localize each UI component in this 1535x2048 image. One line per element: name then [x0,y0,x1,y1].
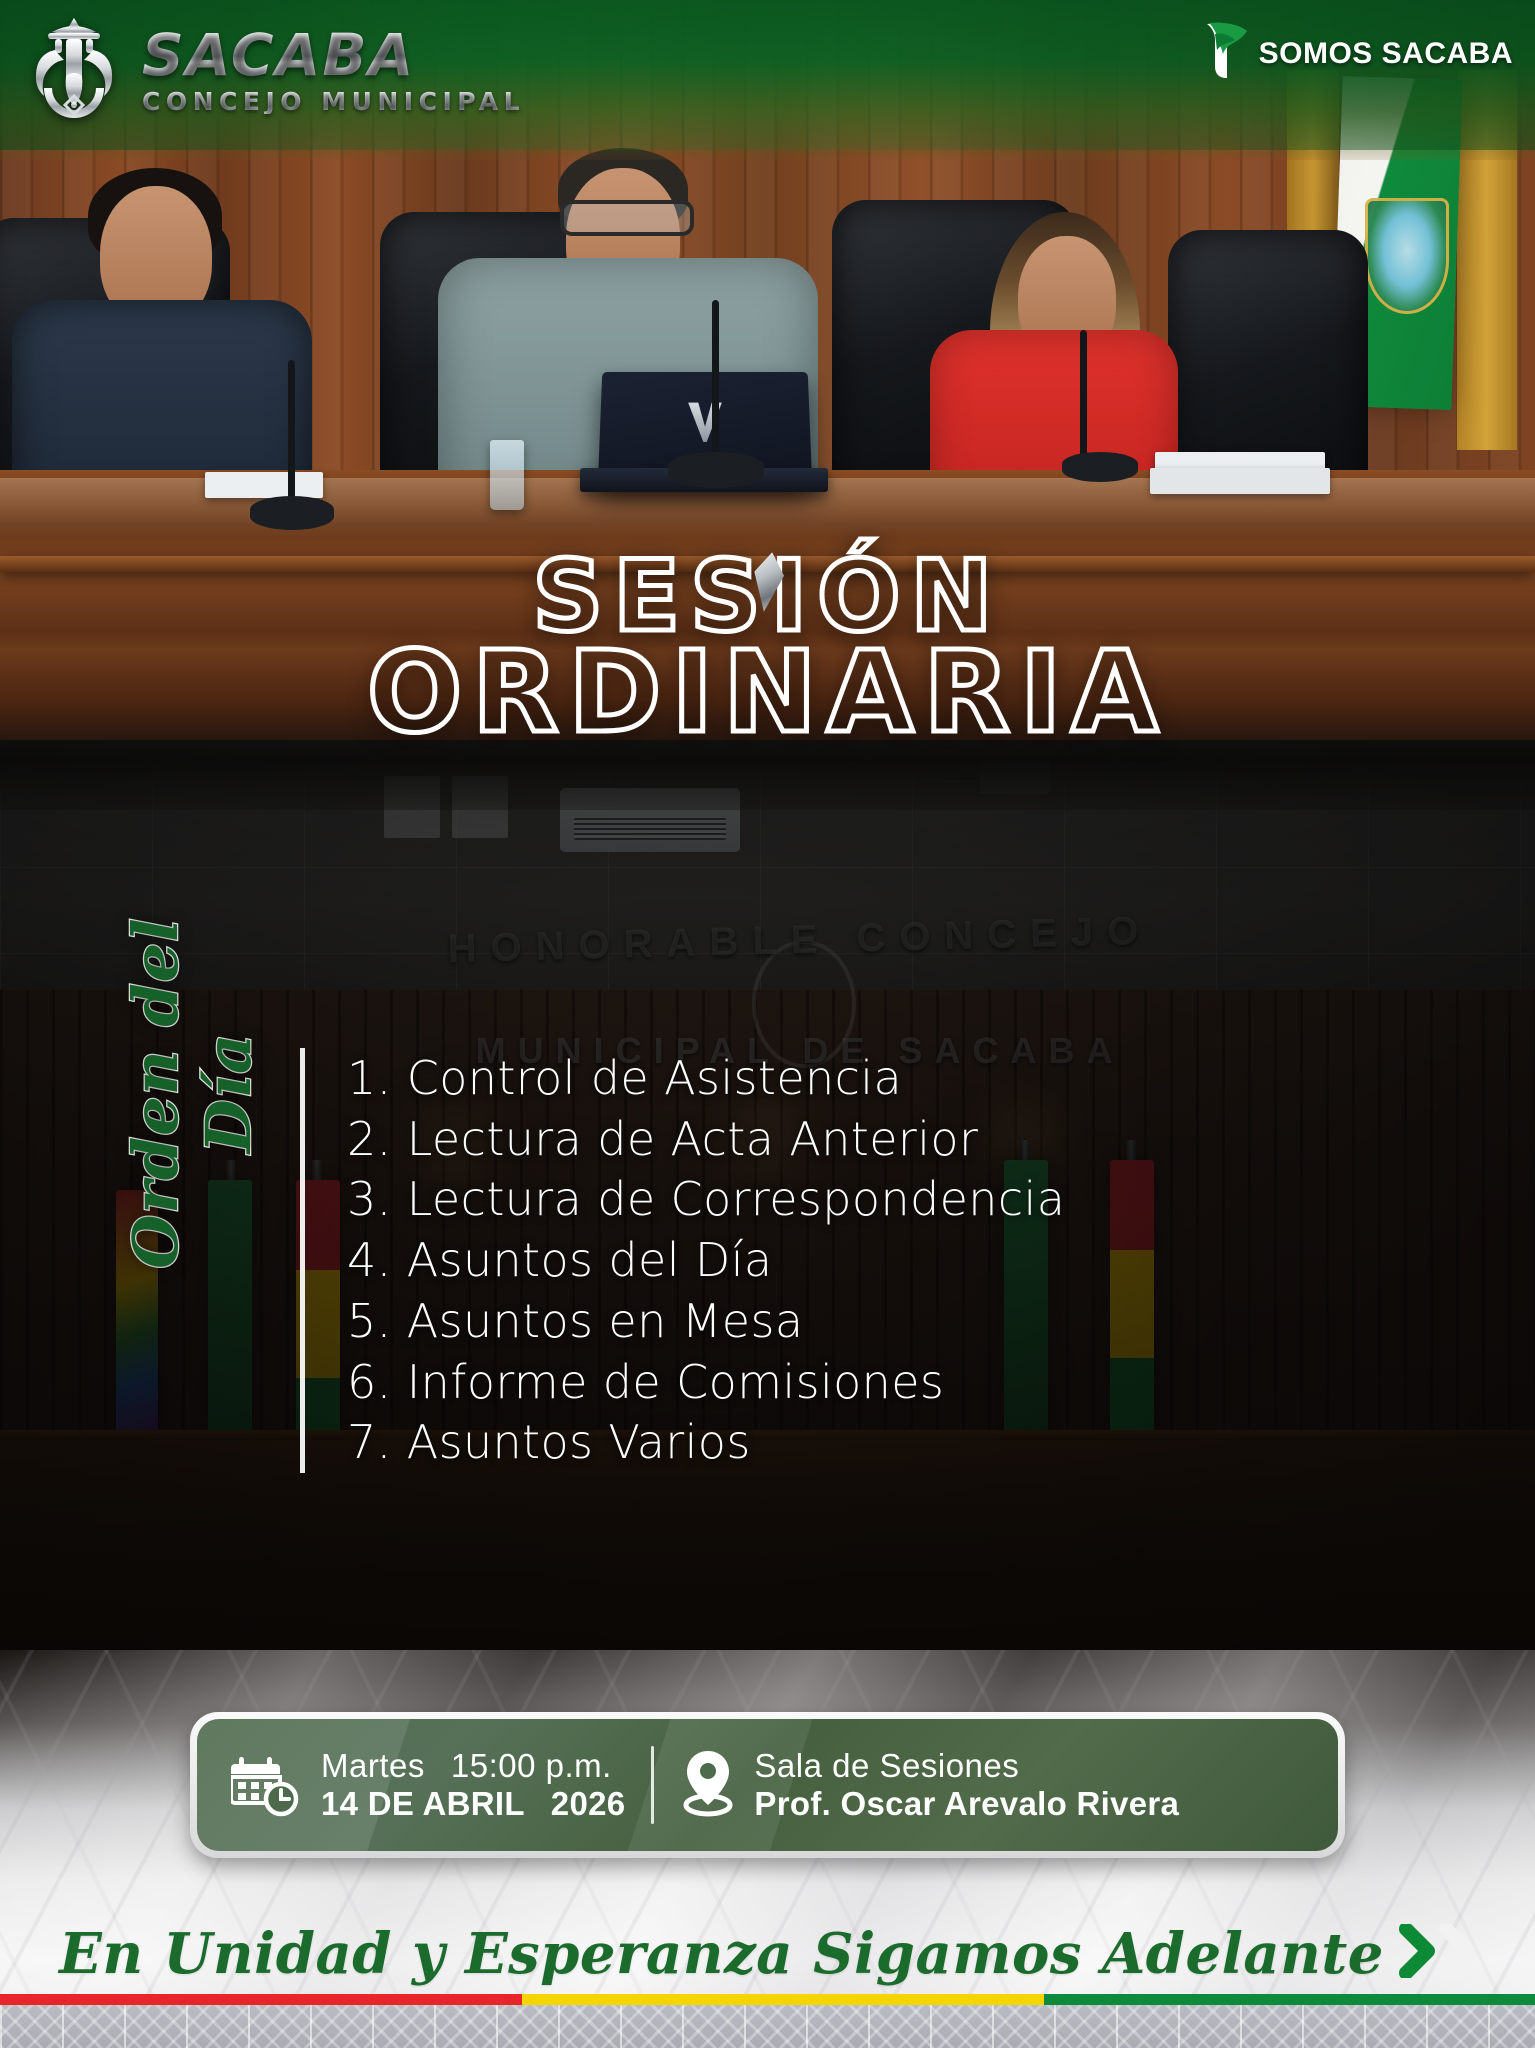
agenda-item: 2. Lectura de Acta Anterior [347,1109,1065,1170]
orden-del-dia-label: Orden del Día [119,883,265,1303]
water-glass [490,440,524,510]
map-pin-icon [680,1747,736,1824]
event-date-text: Martes 15:00 p.m. 14 DE ABRIL 2026 [321,1747,625,1822]
microphone-base [668,452,764,488]
brand-subtitle: CONCEJO MUNICIPAL [142,89,525,114]
event-location-section: Sala de Sesiones Prof. Oscar Arevalo Riv… [680,1747,1179,1824]
microphone-stem [288,360,295,500]
agenda-item: 7. Asuntos Varios [347,1412,1065,1473]
agenda-item: 1. Control de Asistencia [347,1048,1065,1109]
desk-front-edge [0,556,1535,572]
agenda-item: 4. Asuntos del Día [347,1230,1065,1291]
sacaba-flag-emblem [1365,198,1449,314]
info-bar-divider [651,1746,654,1824]
double-chevron-right-icon [1398,1924,1476,1978]
event-date: 14 DE ABRIL [321,1785,525,1823]
event-date-section: Martes 15:00 p.m. 14 DE ABRIL 2026 [197,1747,625,1824]
documents [1150,468,1330,494]
event-info-bar-inner: Martes 15:00 p.m. 14 DE ABRIL 2026 [197,1719,1338,1851]
documents [205,472,323,498]
somos-sacaba-ribbon-icon [1197,20,1251,87]
slogan-text: En Unidad y Esperanza Sigamos Adelante [59,1921,1384,1987]
andean-textile-band [0,2005,1535,2048]
slogan-row: En Unidad y Esperanza Sigamos Adelante [0,1900,1535,2008]
brand-title: SACABA [142,26,525,84]
header-left-branding: SACABA CONCEJO MUNICIPAL [22,14,525,126]
tricolor-green [1044,1994,1535,2005]
tricolor-red [0,1994,522,2005]
agenda-item: 3. Lectura de Correspondencia [347,1169,1065,1230]
agenda-item: 5. Asuntos en Mesa [347,1291,1065,1352]
microphone-stem [712,300,719,460]
brand-text-block: SACABA CONCEJO MUNICIPAL [142,26,525,114]
event-time: 15:00 p.m. [451,1747,612,1785]
location-line-1: Sala de Sesiones [754,1747,1179,1785]
header-right-branding: SOMOS SACABA [1197,20,1513,87]
event-info-bar: Martes 15:00 p.m. 14 DE ABRIL 2026 [190,1712,1345,1858]
textile-pattern [0,2005,1535,2048]
sacaba-coat-of-arms-icon [22,14,126,126]
poster-root: HONORABLE CONCEJO MUNICIPAL DE SACABA [0,0,1535,2048]
agenda-item: 6. Informe de Comisiones [347,1352,1065,1413]
calendar-clock-icon [231,1747,303,1824]
event-year: 2026 [551,1785,626,1823]
bolivia-tricolor-strip [0,1994,1535,2005]
agenda-list: 1. Control de Asistencia 2. Lectura de A… [300,1048,1065,1473]
tricolor-yellow [522,1994,1044,2005]
microphone-stem [1080,330,1087,460]
location-line-2: Prof. Oscar Arevalo Rivera [754,1785,1179,1823]
microphone-base [250,496,334,530]
glasses-icon [560,200,694,236]
event-location-text: Sala de Sesiones Prof. Oscar Arevalo Riv… [754,1747,1179,1822]
event-day-name: Martes [321,1747,425,1785]
somos-sacaba-label: SOMOS SACABA [1259,37,1513,71]
microphone-base [1062,452,1138,482]
